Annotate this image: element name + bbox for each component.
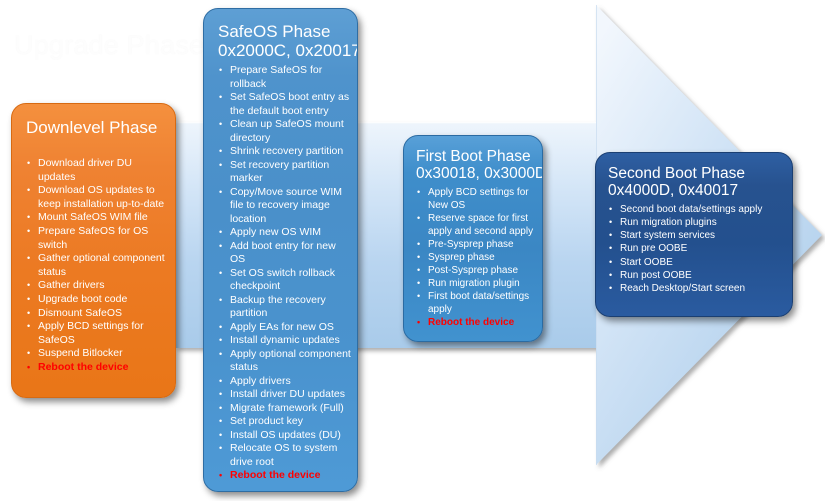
phase-box-secondboot[interactable]: Second Boot Phase 0x4000D, 0x40017 Secon…	[595, 152, 793, 317]
phase-code-secondboot: 0x4000D, 0x40017	[608, 182, 786, 199]
step-item: Set OS switch rollback checkpoint	[218, 267, 351, 294]
step-item: Suspend Bitlocker	[26, 347, 165, 361]
step-item: Sysprep phase	[416, 251, 536, 264]
step-item: Apply EAs for new OS	[218, 321, 351, 335]
step-item: Gather drivers	[26, 279, 165, 293]
step-item: Apply BCD settings for SafeOS	[26, 320, 165, 347]
phase-steps-safeos: Prepare SafeOS for rollback Set SafeOS b…	[218, 64, 351, 483]
step-item: Install driver DU updates	[218, 388, 351, 402]
phase-box-firstboot[interactable]: First Boot Phase 0x30018, 0x3000D Apply …	[403, 135, 543, 342]
step-item: Add boot entry for new OS	[218, 240, 351, 267]
step-item: Start OOBE	[608, 256, 786, 269]
step-item-reboot: Reboot the device	[26, 361, 165, 375]
phase-title-downlevel: Downlevel Phase	[26, 118, 165, 137]
step-item: Download OS updates to keep installation…	[26, 184, 165, 211]
step-item: Run pre OOBE	[608, 242, 786, 255]
step-item: Apply new OS WIM	[218, 226, 351, 240]
step-item: Mount SafeOS WIM file	[26, 211, 165, 225]
step-item: Clean up SafeOS mount directory	[218, 118, 351, 145]
step-item: Post-Sysprep phase	[416, 264, 536, 277]
phase-title-safeos: SafeOS Phase	[218, 22, 351, 41]
phase-code-safeos: 0x2000C, 0x20017	[218, 41, 351, 60]
step-item-reboot: Reboot the device	[218, 469, 351, 483]
step-item: Second boot data/settings apply	[608, 203, 786, 216]
phase-steps-firstboot: Apply BCD settings for New OS Reserve sp…	[416, 186, 536, 329]
step-item: Run migration plugin	[416, 277, 536, 290]
phase-steps-secondboot: Second boot data/settings apply Run migr…	[608, 203, 786, 295]
step-item: Apply drivers	[218, 375, 351, 389]
step-item: Prepare SafeOS for rollback	[218, 64, 351, 91]
step-item: Reach Desktop/Start screen	[608, 282, 786, 295]
step-item: Install dynamic updates	[218, 334, 351, 348]
step-item: Set SafeOS boot entry as the default boo…	[218, 91, 351, 118]
diagram-canvas: Upgrade Phases Downlevel Phase Download …	[0, 0, 825, 501]
step-item: Run post OOBE	[608, 269, 786, 282]
step-item: Reserve space for first apply and second…	[416, 212, 536, 238]
step-item: Gather optional component status	[26, 252, 165, 279]
step-item: Dismount SafeOS	[26, 307, 165, 321]
step-item: Pre-Sysprep phase	[416, 238, 536, 251]
step-item: Set recovery partition marker	[218, 159, 351, 186]
step-item: Prepare SafeOS for OS switch	[26, 225, 165, 252]
phase-box-safeos[interactable]: SafeOS Phase 0x2000C, 0x20017 Prepare Sa…	[203, 8, 358, 492]
step-item: Set product key	[218, 415, 351, 429]
step-item: Relocate OS to system drive root	[218, 442, 351, 469]
step-item: Apply optional component status	[218, 348, 351, 375]
phase-code-firstboot: 0x30018, 0x3000D	[416, 165, 536, 182]
phase-title-secondboot: Second Boot Phase	[608, 165, 786, 182]
step-item: Start system services	[608, 229, 786, 242]
step-item: Apply BCD settings for New OS	[416, 186, 536, 212]
phase-steps-downlevel: Download driver DU updates Download OS u…	[26, 157, 165, 375]
step-item: Install OS updates (DU)	[218, 429, 351, 443]
step-item: First boot data/settings apply	[416, 290, 536, 316]
step-item: Download driver DU updates	[26, 157, 165, 184]
step-item-reboot: Reboot the device	[416, 316, 536, 329]
step-item: Shrink recovery partition	[218, 145, 351, 159]
step-item: Migrate framework (Full)	[218, 402, 351, 416]
step-item: Copy/Move source WIM file to recovery im…	[218, 186, 351, 227]
step-item: Upgrade boot code	[26, 293, 165, 307]
step-item: Run migration plugins	[608, 216, 786, 229]
phase-box-downlevel[interactable]: Downlevel Phase Download driver DU updat…	[11, 103, 176, 398]
step-item: Backup the recovery partition	[218, 294, 351, 321]
phase-title-firstboot: First Boot Phase	[416, 148, 536, 165]
